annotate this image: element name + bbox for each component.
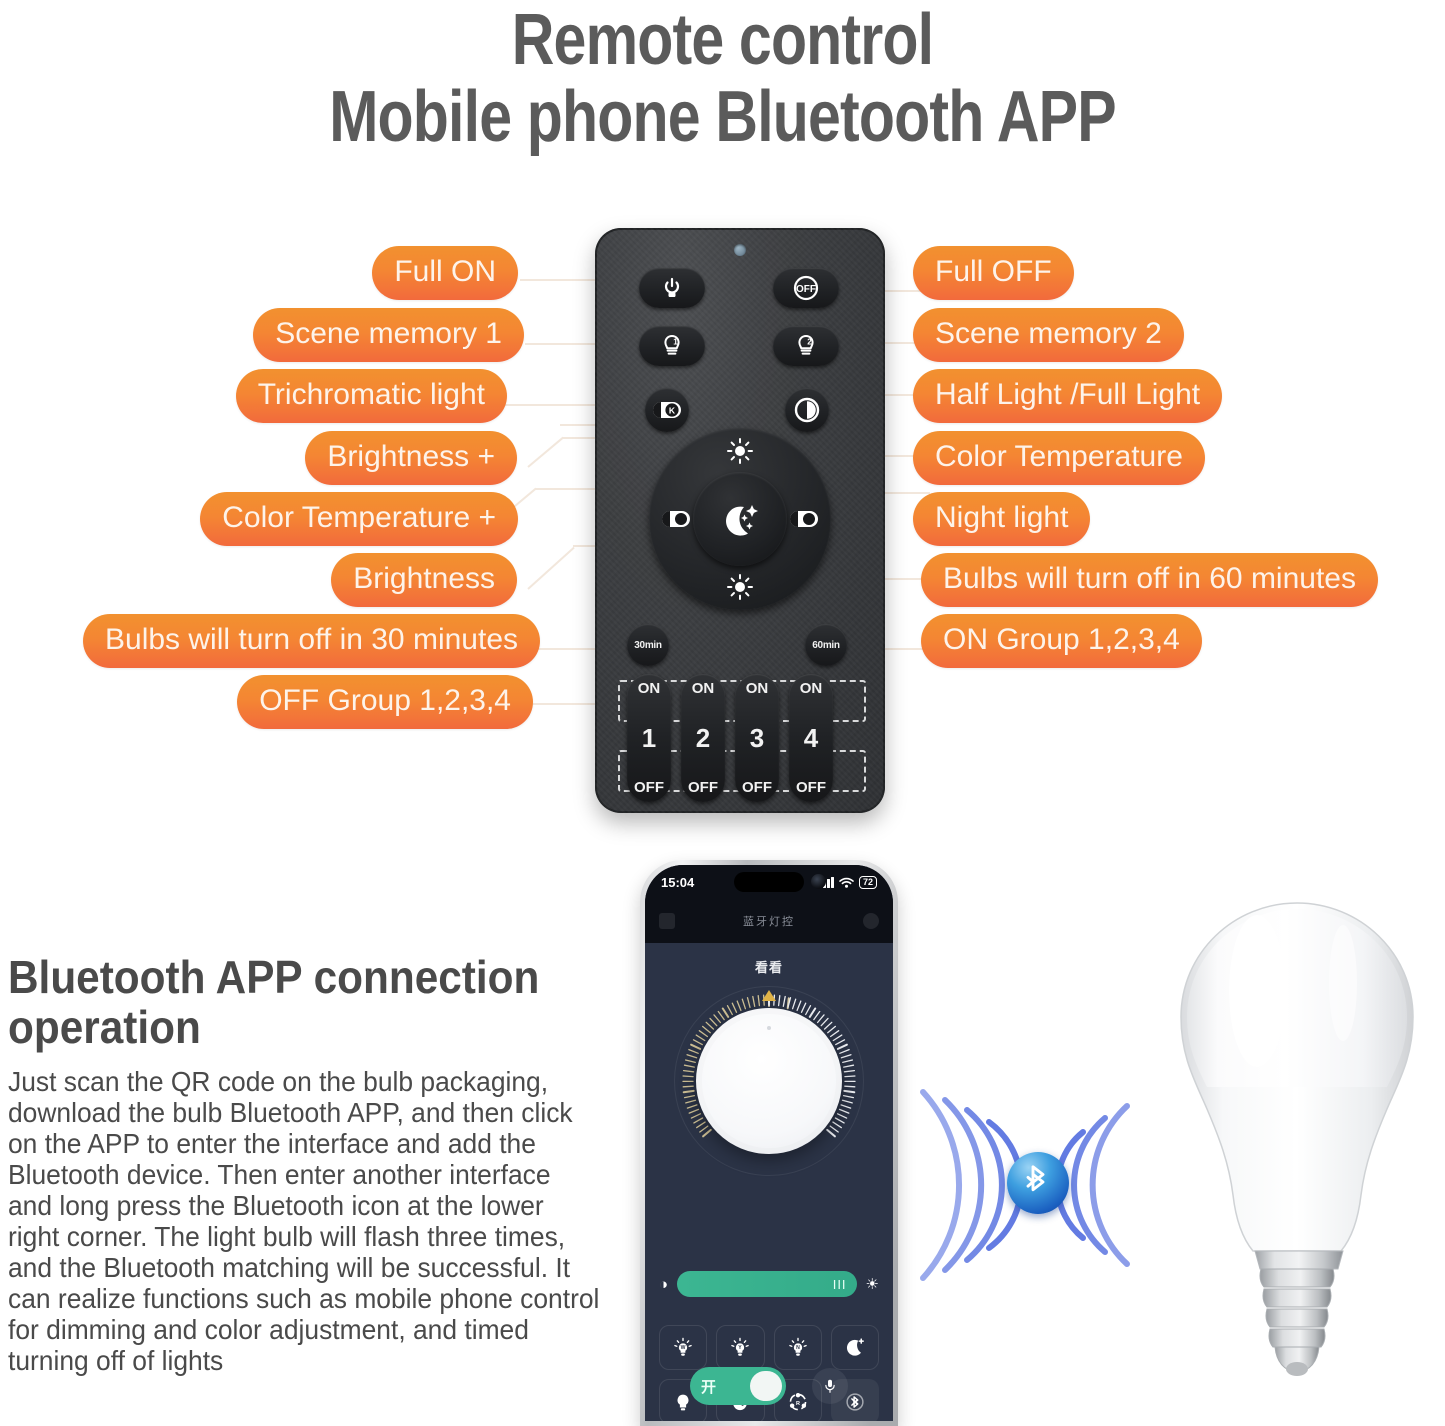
button-scene-memory-2[interactable]: 2 [773,326,839,366]
bluetooth-section-body: Just scan the QR code on the bulb packag… [8,1066,601,1376]
battery-level: 72 [859,876,877,889]
button-color-temperature-down[interactable] [789,510,819,528]
bluetooth-pairing-graphic [915,1080,1130,1290]
mode-neutral-light[interactable]: N [774,1325,822,1370]
group-off-label: OFF [742,779,772,796]
callout-on-group[interactable]: ON Group 1,2,3,4 [921,614,1202,668]
bulb-n-icon: N [787,1337,809,1359]
group-off-label: OFF [796,779,826,796]
status-time: 15:04 [661,875,694,890]
sun-icon [727,574,753,600]
bluetooth-section-heading: Bluetooth APP connection operation [8,952,560,1052]
callout-bulbs-off-30-minutes[interactable]: Bulbs will turn off in 30 minutes [83,614,540,668]
group-number: 4 [804,723,818,754]
slider-handle-label: III [833,1277,847,1292]
bulb-y-icon: Y [729,1337,751,1359]
group-on-label: ON [800,680,823,697]
button-scene-memory-1[interactable]: 1 [639,326,705,366]
svg-text:N: N [796,1345,800,1351]
voice-control-button[interactable] [812,1368,848,1404]
power-bulb-icon [660,276,684,300]
callout-brightness-plus[interactable]: Brightness + [305,431,517,485]
callout-full-off[interactable]: Full OFF [913,246,1074,300]
leader-line [527,547,574,590]
callout-scene-memory-2[interactable]: Scene memory 2 [913,308,1184,362]
device-name: 看看 [645,957,893,976]
ir-led-indicator [734,244,746,256]
brightness-icon: ☀ [866,1277,879,1292]
scene-memory-icon: 2 [792,332,820,360]
phone-screen: 15:04 72 蓝牙灯控 看看 [645,865,893,1421]
app-title: 蓝牙灯控 [743,913,795,929]
mode-white-light[interactable]: W [659,1325,707,1370]
callout-bulbs-off-60-minutes[interactable]: Bulbs will turn off in 60 minutes [921,553,1378,607]
page-title-line1: Remote control [130,2,1315,78]
dial-position-marker [762,990,776,1001]
status-indicators: 72 [819,876,877,889]
remote-control: OFF 1 2 K [595,228,885,813]
phone-bottom-row: 开 [645,1367,893,1405]
led-bulb-image [1155,895,1440,1415]
page-title: Remote control Mobile phone Bluetooth AP… [0,0,1445,156]
button-color-temperature-up[interactable] [661,510,691,528]
front-camera-icon [811,874,826,889]
moon-stars-icon [712,491,768,547]
group-column-1[interactable]: ON 1 OFF [627,674,671,802]
bulb-illustration [1155,895,1440,1415]
group-column-4[interactable]: ON 4 OFF [789,674,833,802]
wifi-icon [839,877,854,888]
dial-knob[interactable] [696,1008,842,1154]
power-toggle[interactable]: 开 [690,1367,786,1405]
scene-memory-icon: 1 [658,332,686,360]
mode-night-light[interactable] [831,1325,879,1370]
page-title-line2: Mobile phone Bluetooth APP [130,78,1315,156]
profile-icon[interactable] [863,913,879,929]
group-column-2[interactable]: ON 2 OFF [681,674,725,802]
button-timer-60min[interactable]: 60min [805,624,847,666]
color-temp-icon [789,510,819,528]
leader-line [527,437,564,468]
bulb-w-icon: W [672,1337,694,1359]
bluetooth-logo-badge [1007,1152,1069,1214]
power-toggle-label: 开 [694,1376,716,1397]
brightness-slider[interactable]: III [677,1271,856,1297]
button-trichromatic-light[interactable]: K [645,388,689,432]
microphone-icon [822,1378,838,1394]
svg-text:K: K [669,406,676,416]
svg-text:W: W [681,1345,686,1351]
sun-icon [727,438,753,464]
off-icon: OFF [791,273,821,303]
callout-scene-memory-1[interactable]: Scene memory 1 [253,308,524,362]
timer-60min-label: 60min [812,640,839,651]
callout-off-group[interactable]: OFF Group 1,2,3,4 [237,675,533,729]
callout-night-light[interactable]: Night light [913,492,1090,546]
button-brightness-down[interactable] [727,574,753,600]
app-content: 看看 ◑ III [645,943,893,1421]
group-on-label: ON [746,680,769,697]
group-off-label: OFF [634,779,664,796]
group-column-3[interactable]: ON 3 OFF [735,674,779,802]
infographic-page: Remote control Mobile phone Bluetooth AP… [0,0,1445,1426]
timer-30min-label: 30min [634,640,661,651]
callout-color-temperature-plus[interactable]: Color Temperature + [200,492,518,546]
callout-color-temperature[interactable]: Color Temperature [913,431,1205,485]
half-full-light-icon [792,395,822,425]
moon-plus-icon [844,1337,866,1359]
dpad-control[interactable] [649,428,831,610]
dim-icon: ◑ [659,1277,668,1292]
group-number: 1 [642,723,656,754]
svg-text:1: 1 [673,338,678,347]
button-full-off[interactable]: OFF [773,268,839,308]
group-off-label: OFF [688,779,718,796]
brightness-slider-row[interactable]: ◑ III ☀ [645,1271,893,1297]
button-full-on[interactable] [639,268,705,308]
callout-half-full-light[interactable]: Half Light /Full Light [913,369,1222,423]
callout-trichromatic-light[interactable]: Trichromatic light [236,369,507,423]
button-half-full-light[interactable] [785,388,829,432]
phone-status-bar: 15:04 72 [645,865,893,899]
svg-text:2: 2 [807,338,812,347]
dynamic-island [734,872,804,892]
button-brightness-up[interactable] [727,438,753,464]
brightness-dial[interactable] [674,986,864,1176]
svg-text:OFF: OFF [796,284,816,295]
mode-yellow-light[interactable]: Y [716,1325,764,1370]
callout-brightness[interactable]: Brightness [331,553,517,607]
group-number: 3 [750,723,764,754]
phone-mockup: 15:04 72 蓝牙灯控 看看 [640,860,898,1426]
power-toggle-knob[interactable] [750,1371,782,1401]
group-on-label: ON [692,680,715,697]
svg-text:Y: Y [739,1345,743,1351]
menu-icon[interactable] [659,913,675,929]
app-top-bar: 蓝牙灯控 [645,899,893,943]
group-number: 2 [696,723,710,754]
group-on-label: ON [638,680,661,697]
callout-full-on[interactable]: Full ON [372,246,518,300]
button-night-light[interactable] [693,472,787,566]
kelvin-halfmoon-icon: K [652,399,682,421]
button-timer-30min[interactable]: 30min [627,624,669,666]
color-temp-icon [661,510,691,528]
bluetooth-icon [1021,1163,1055,1203]
